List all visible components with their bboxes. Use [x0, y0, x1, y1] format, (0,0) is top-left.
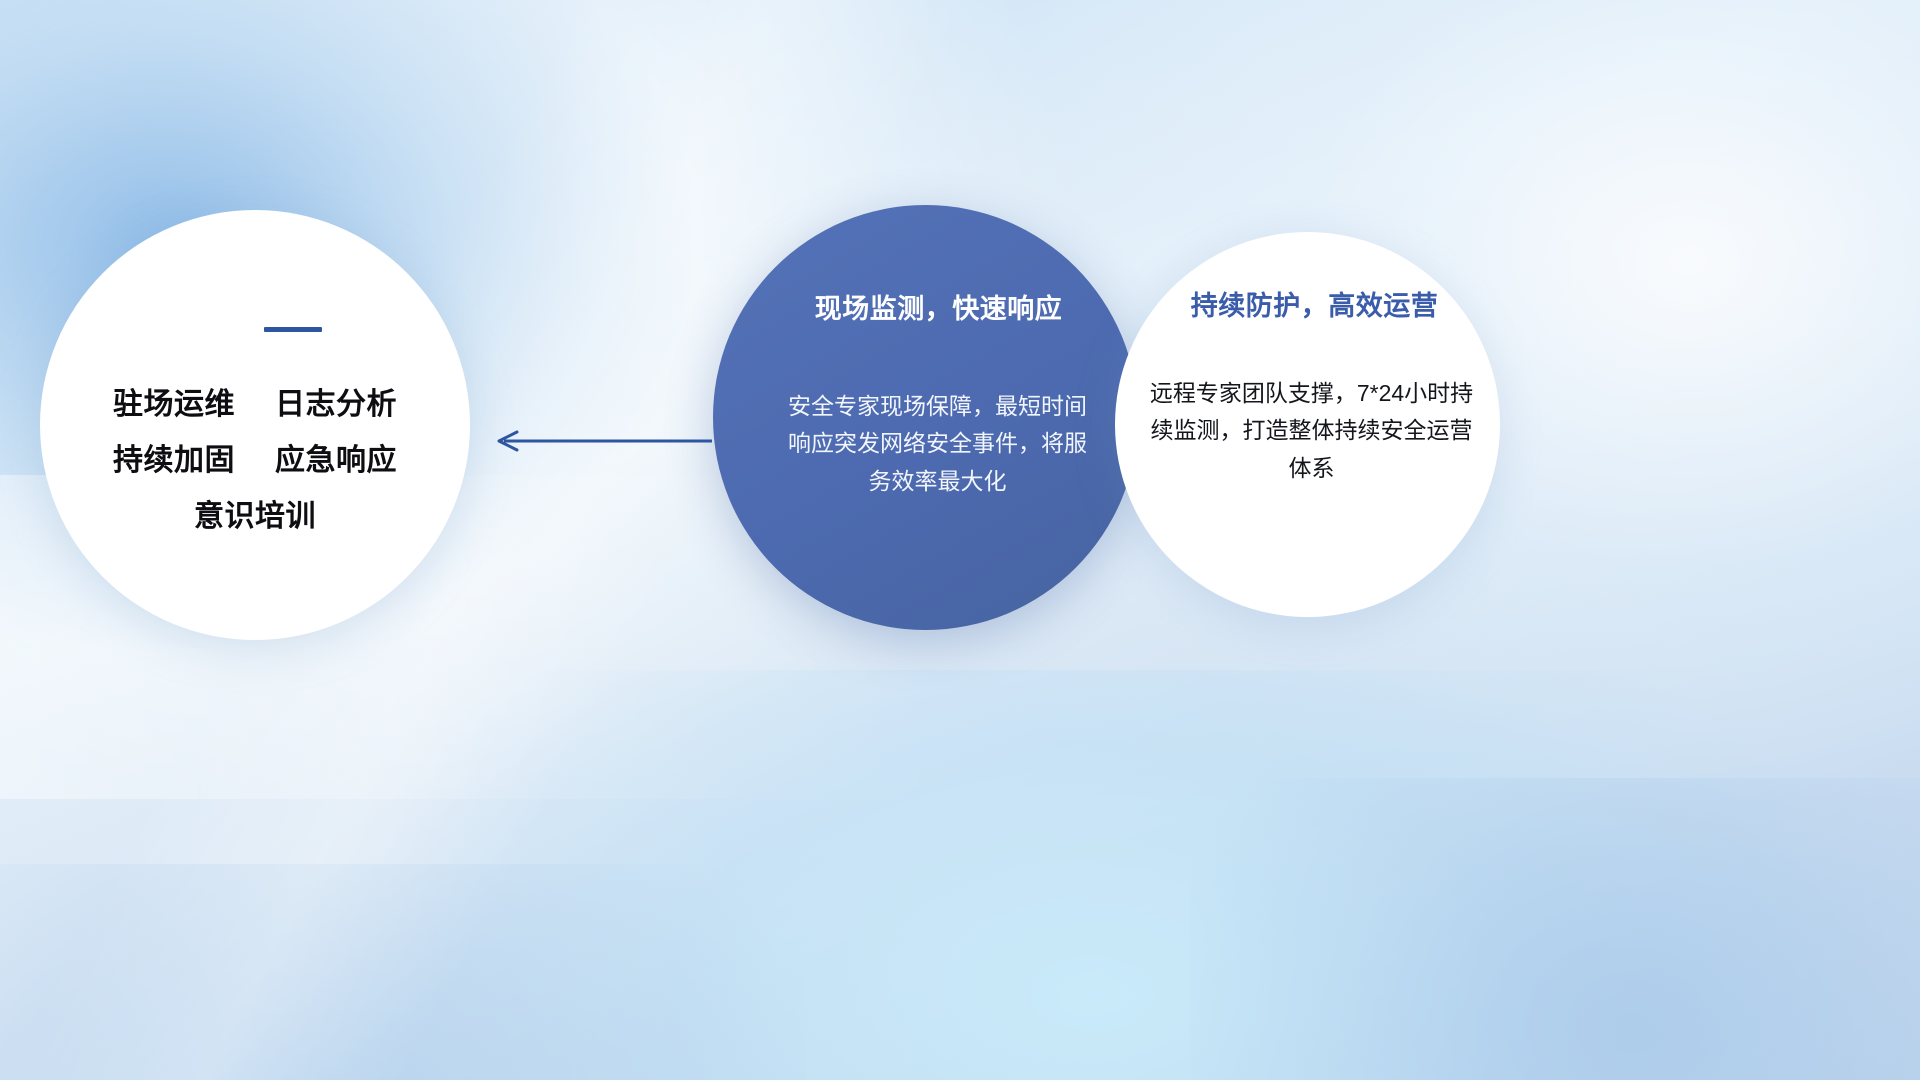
capability-circle-right-content: 持续防护，高效运营 远程专家团队支撑，7*24小时持续监测，打造整体持续安全运营…: [1115, 232, 1500, 617]
capability-tag: 驻场运维: [113, 390, 235, 420]
capability-tag-row: 意识培训: [194, 502, 316, 532]
capability-tag-row: 驻场运维 日志分析: [113, 390, 397, 420]
capability-tag: 持续加固: [113, 446, 235, 476]
horizontal-dash-icon: [264, 327, 322, 332]
arrow-left-icon: [490, 424, 715, 458]
right-panel-body: 远程专家团队支撑，7*24小时持续监测，打造整体持续安全运营体系: [1147, 375, 1477, 487]
capability-tag: 日志分析: [275, 390, 397, 420]
capability-tag-list: 驻场运维 日志分析 持续加固 应急响应 意识培训: [113, 390, 397, 532]
diagram-stage: 驻场运维 日志分析 持续加固 应急响应 意识培训 现场监测，快速响应 安全专家现…: [0, 0, 1920, 1080]
capability-circle-middle[interactable]: 现场监测，快速响应 安全专家现场保障，最短时间响应突发网络安全事件，将服务效率最…: [713, 205, 1138, 630]
capability-circle-right[interactable]: 持续防护，高效运营 远程专家团队支撑，7*24小时持续监测，打造整体持续安全运营…: [1115, 232, 1500, 617]
right-panel-title: 持续防护，高效运营: [1191, 284, 1439, 323]
capability-circle-middle-content: 现场监测，快速响应 安全专家现场保障，最短时间响应突发网络安全事件，将服务效率最…: [713, 205, 1138, 630]
capability-tag: 应急响应: [275, 446, 397, 476]
capability-circle-left-content: 驻场运维 日志分析 持续加固 应急响应 意识培训: [40, 210, 470, 640]
capability-tag-row: 持续加固 应急响应: [113, 446, 397, 476]
middle-panel-title: 现场监测，快速响应: [815, 287, 1063, 326]
middle-panel-body: 安全专家现场保障，最短时间响应突发网络安全事件，将服务效率最大化: [788, 388, 1088, 500]
capability-tag: 意识培训: [194, 502, 316, 532]
capability-circle-left[interactable]: 驻场运维 日志分析 持续加固 应急响应 意识培训: [40, 210, 470, 640]
